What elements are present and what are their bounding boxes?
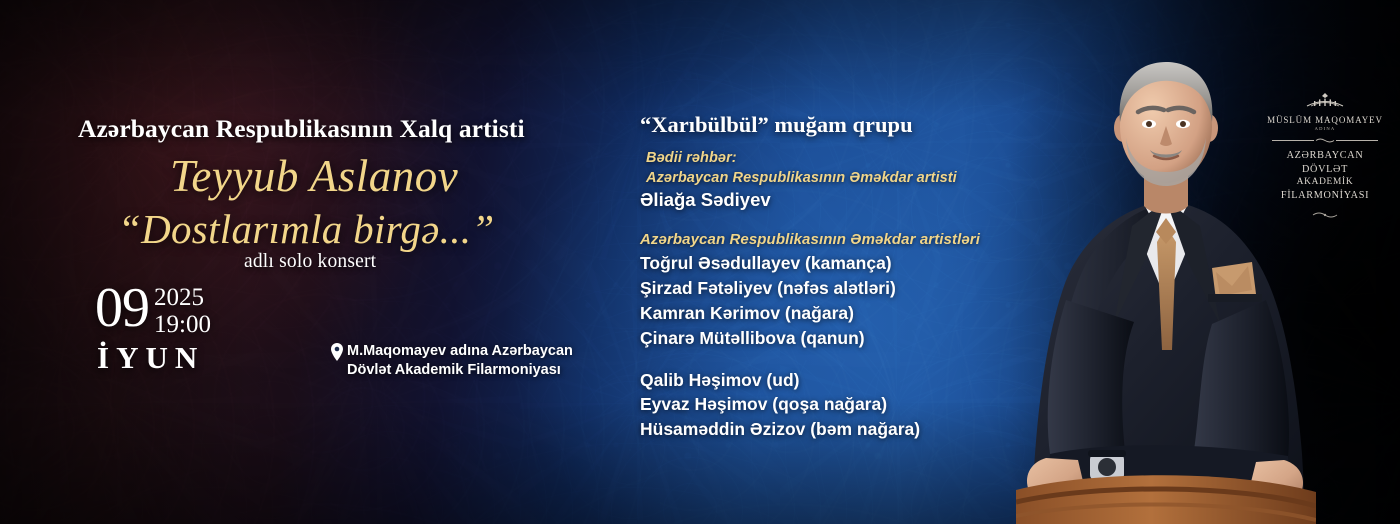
- performer: Eyvaz Həşimov (qoşa nağara): [640, 392, 1040, 417]
- artist-honorific: Azərbaycan Respublikasının Xalq artisti: [78, 114, 578, 144]
- philharmonic-logo: MÜSLÜM MAQOMAYEV ADINA AZƏRBAYCAN DÖVLƏT…: [1262, 92, 1388, 224]
- logo-line-3: AKADEMİK: [1262, 176, 1388, 189]
- performer-info-column: “Xarıbülbül” muğam qrupu Bədii rəhbər: A…: [640, 112, 1040, 442]
- logo-line-2: AZƏRBAYCAN DÖVLƏT: [1262, 149, 1388, 176]
- performer: Hüsaməddin Əzizov (bəm nağara): [640, 417, 1040, 442]
- map-pin-icon: [330, 343, 344, 366]
- artistic-director-role: Bədii rəhbər: Azərbaycan Respublikasının…: [646, 149, 1040, 188]
- concert-poster-banner: Azərbaycan Respublikasının Xalq artisti …: [0, 0, 1400, 524]
- watch-face: [1098, 458, 1116, 476]
- venue-line-1: M.Maqomayev adına Azərbaycan: [347, 343, 573, 359]
- director-role-line-1: Bədii rəhbər:: [646, 150, 737, 166]
- venue-block: M.Maqomayev adına Azərbaycan Dövlət Akad…: [330, 342, 590, 380]
- venue-line-2: Dövlət Akademik Filarmoniyası: [347, 362, 561, 378]
- performer: Qalib Həşimov (ud): [640, 368, 1040, 393]
- watch-strap: [1088, 450, 1126, 457]
- event-time: 19:00: [154, 312, 211, 339]
- concert-title: “Dostlarımla birgə...”: [118, 205, 494, 253]
- event-day: 09: [95, 282, 149, 336]
- mugham-group-name: “Xarıbülbül” muğam qrupu: [640, 112, 1040, 138]
- honored-performer: Toğrul Əsədullayev (kamança): [640, 251, 1040, 276]
- pupil-left: [1146, 121, 1152, 127]
- sleeve-left: [1048, 300, 1134, 460]
- pupil-right: [1180, 121, 1186, 127]
- event-month: İYUN: [97, 340, 295, 376]
- left-text-column: Azərbaycan Respublikasının Xalq artisti …: [0, 0, 600, 524]
- honored-performer: Şirzad Fətəliyev (nəfəs alətləri): [640, 276, 1040, 301]
- concert-subtitle: adlı solo konsert: [244, 251, 376, 273]
- honored-performer: Kamran Kərimov (nağara): [640, 301, 1040, 326]
- director-role-line-2: Azərbaycan Respublikasının Əməkdar artis…: [646, 170, 957, 186]
- logo-divider: [1270, 131, 1380, 148]
- event-date-block: 09 2025 19:00 İYUN: [95, 282, 295, 376]
- honored-performer: Çinarə Mütəllibova (qanun): [640, 326, 1040, 351]
- logo-flourish-icon: [1262, 206, 1388, 224]
- logo-line-4: FİLARMONİYASI: [1262, 189, 1388, 203]
- artistic-director-name: Əliağa Sədiyev: [640, 189, 1040, 211]
- performer-list-spacer: [640, 351, 1040, 368]
- venue-name: M.Maqomayev adına Azərbaycan Dövlət Akad…: [347, 342, 573, 380]
- logo-line-1: MÜSLÜM MAQOMAYEV: [1262, 115, 1388, 125]
- event-year: 2025: [154, 285, 211, 312]
- honored-artists-heading: Azərbaycan Respublikasının Əməkdar artis…: [640, 231, 1040, 248]
- artist-name: Teyyub Aslanov: [170, 150, 458, 202]
- philharmonic-building-icon: [1262, 92, 1388, 113]
- breast-pocket: [1208, 294, 1262, 302]
